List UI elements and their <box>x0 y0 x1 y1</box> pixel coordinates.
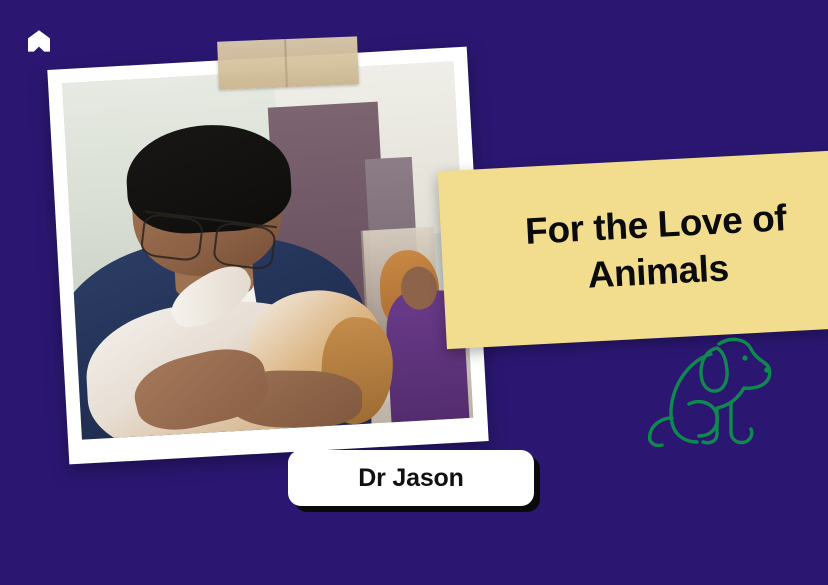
slide-canvas: For the Love of Animals Dr Jason <box>0 0 828 585</box>
photo-image <box>62 61 473 439</box>
name-badge-surface: Dr Jason <box>288 450 534 506</box>
title-sticky-note[interactable]: For the Love of Animals <box>438 149 828 349</box>
sitting-dog-line-icon <box>645 330 775 450</box>
photo-scene <box>62 61 473 439</box>
home-shield-icon[interactable] <box>26 28 52 54</box>
name-badge[interactable]: Dr Jason <box>288 450 534 506</box>
masking-tape <box>217 36 359 89</box>
photo-card[interactable] <box>47 47 488 465</box>
name-badge-label: Dr Jason <box>358 464 463 493</box>
page-title: For the Love of Animals <box>469 193 828 306</box>
